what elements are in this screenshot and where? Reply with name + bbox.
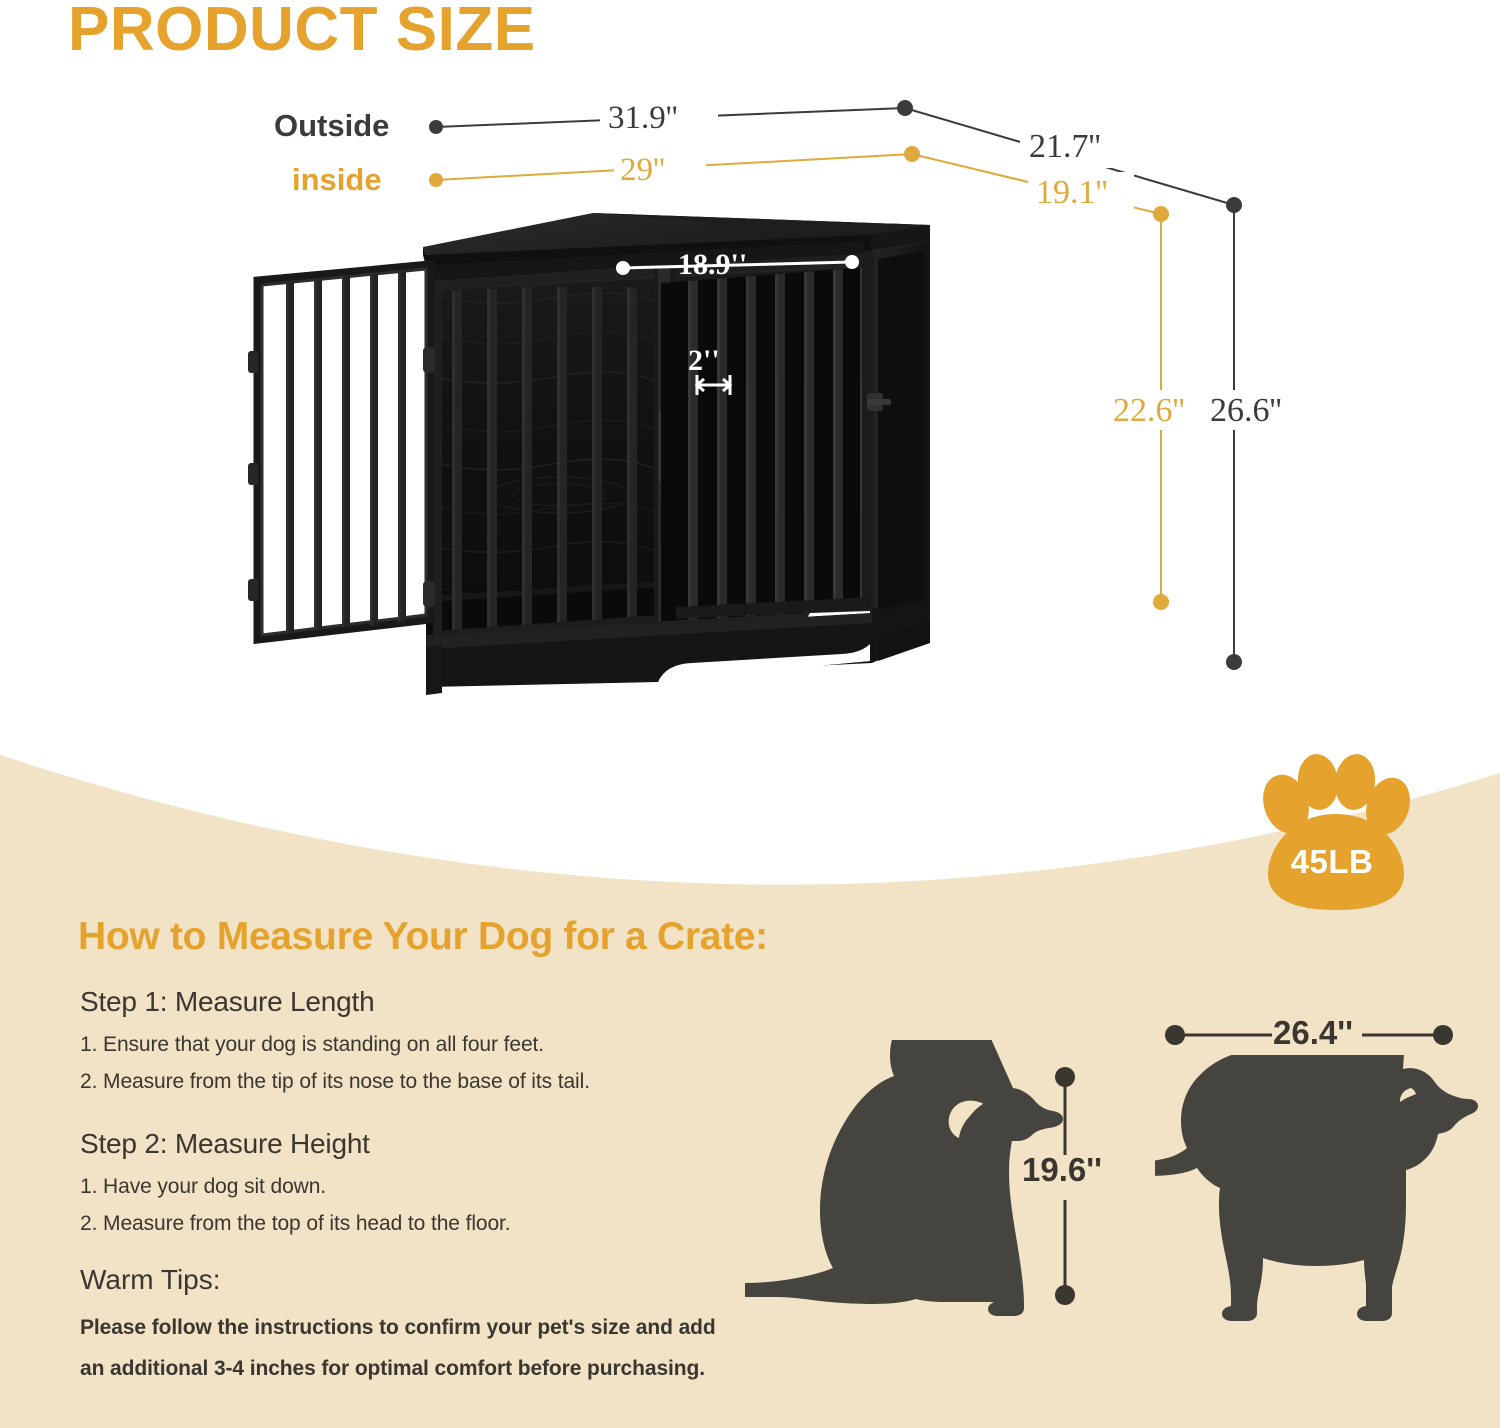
dim-dog-height: 19.6'': [1022, 1151, 1102, 1189]
inside-legend-label: inside: [292, 162, 382, 198]
dim-bar-spacing: 2'': [688, 344, 720, 378]
howto-heading: How to Measure Your Dog for a Crate:: [78, 915, 768, 959]
outside-height-dimension: [1226, 205, 1242, 670]
outside-legend-label: Outside: [274, 108, 389, 144]
step-2-item-2: 2. Measure from the top of its head to t…: [80, 1212, 511, 1236]
dim-outside-height: 26.6'': [1210, 392, 1282, 430]
dim-inside-height: 22.6'': [1113, 392, 1185, 430]
step-2-item-1: 1. Have your dog sit down.: [80, 1175, 326, 1199]
dim-inside-depth: 19.1'': [1036, 174, 1108, 212]
page-title: PRODUCT SIZE: [68, 0, 536, 65]
paw-print-icon: [1238, 752, 1424, 912]
step-1-heading: Step 1: Measure Length: [80, 986, 374, 1018]
warm-tips-heading: Warm Tips:: [80, 1264, 221, 1296]
dim-door-width: 18.9'': [678, 248, 747, 282]
warm-tips-line-2: an additional 3-4 inches for optimal com…: [80, 1357, 705, 1381]
step-1-item-1: 1. Ensure that your dog is standing on a…: [80, 1033, 544, 1057]
dim-dog-length: 26.4'': [1273, 1014, 1353, 1052]
step-1-item-2: 2. Measure from the tip of its nose to t…: [80, 1070, 590, 1094]
standing-dog-silhouette: [1155, 1055, 1490, 1327]
dim-outside-depth: 21.7'': [1029, 128, 1101, 166]
warm-tips-line-1: Please follow the instructions to confir…: [80, 1316, 716, 1340]
dim-outside-width: 31.9'': [608, 100, 678, 137]
product-size-infographic: PRODUCT SIZE: [0, 0, 1500, 1428]
step-2-heading: Step 2: Measure Height: [80, 1128, 370, 1160]
weight-badge-label: 45LB: [1262, 843, 1402, 881]
dim-inside-width: 29'': [620, 152, 665, 189]
